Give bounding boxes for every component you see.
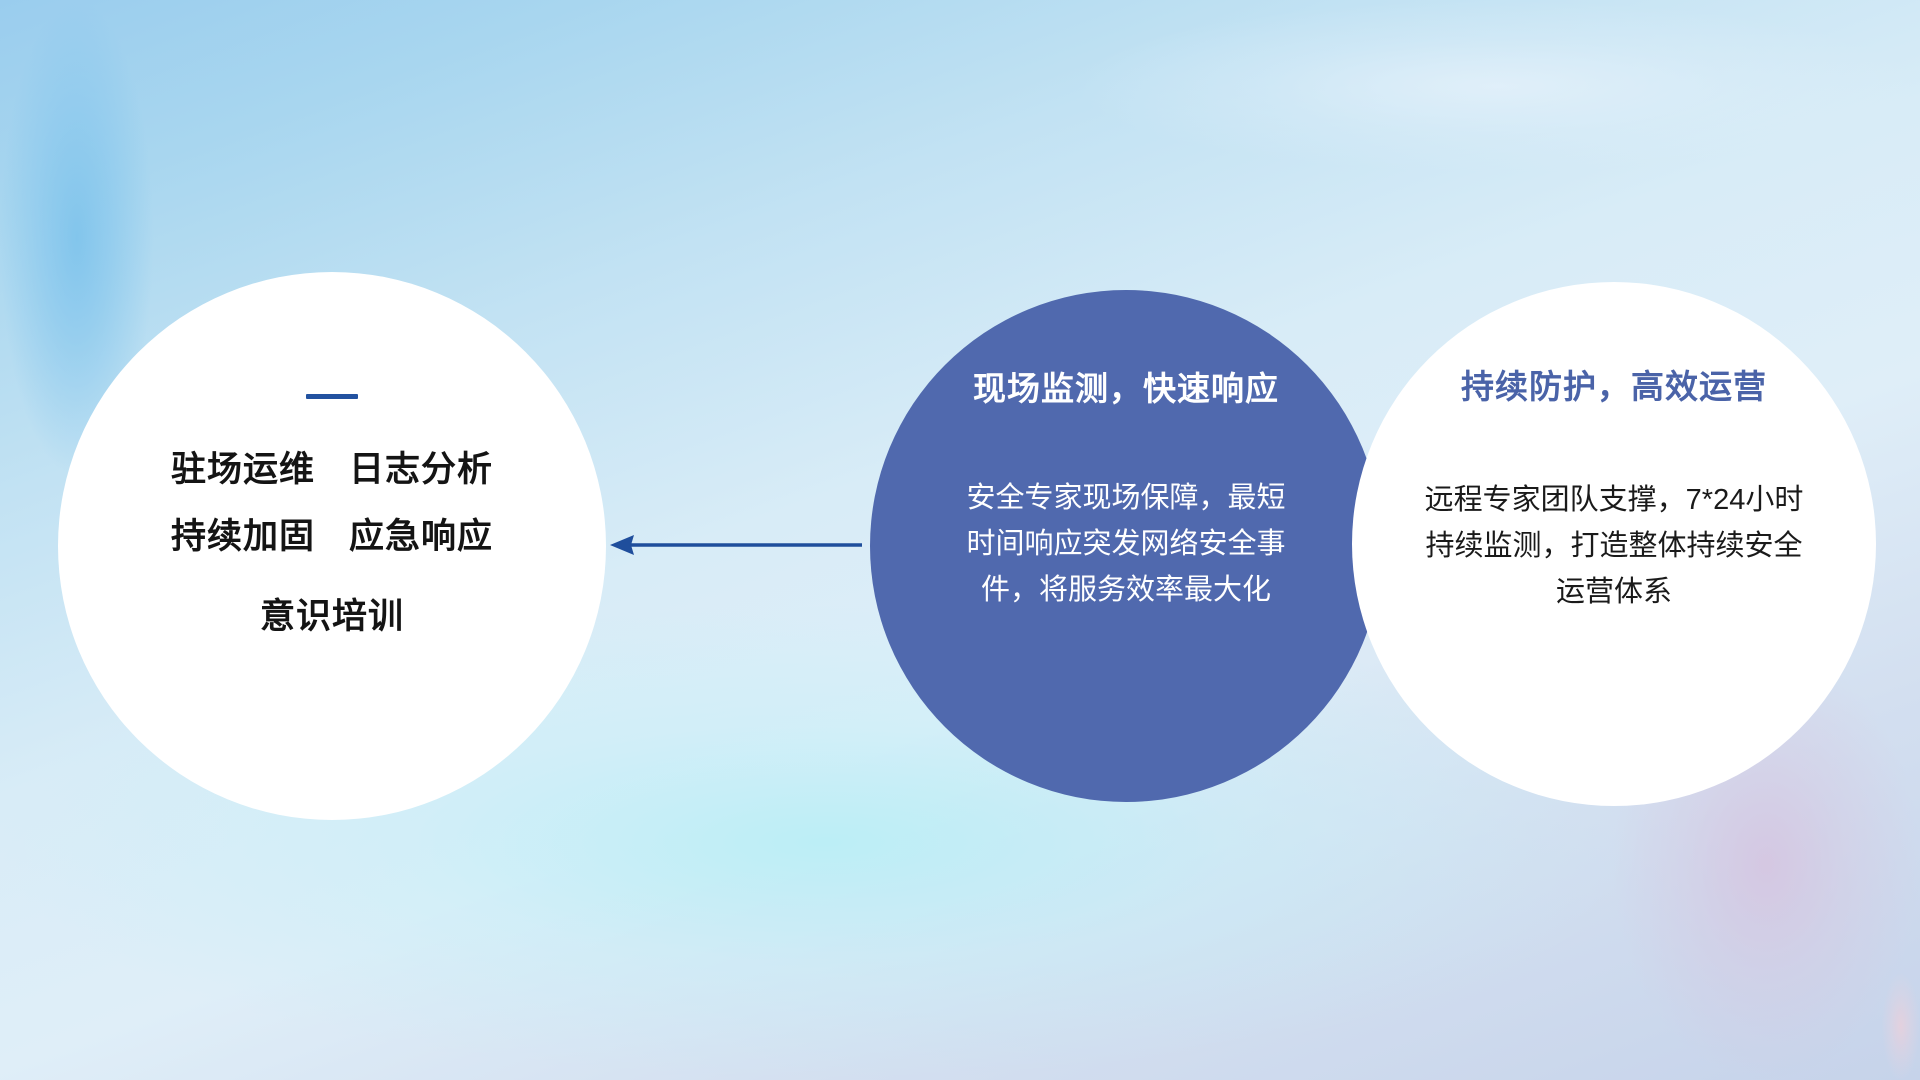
right-circle-body: 远程专家团队支撑，7*24小时持续监测，打造整体持续安全运营体系 <box>1414 478 1814 615</box>
middle-circle-body: 安全专家现场保障，最短时间响应突发网络安全事件，将服务效率最大化 <box>961 476 1291 613</box>
capability-item-4: 应急响应 <box>349 517 493 556</box>
capability-circle-middle[interactable]: 现场监测，快速响应 安全专家现场保障，最短时间响应突发网络安全事件，将服务效率最… <box>870 290 1382 802</box>
capability-item-1: 驻场运维 <box>171 450 315 489</box>
capability-circle-right[interactable]: 持续防护，高效运营 远程专家团队支撑，7*24小时持续监测，打造整体持续安全运营… <box>1352 282 1876 806</box>
middle-circle-title: 现场监测，快速响应 <box>973 362 1279 410</box>
slide-canvas: 驻场运维日志分析 持续加固应急响应 意识培训 现场监测，快速响应 安全专家现场保… <box>0 0 1920 1080</box>
capability-row-1: 驻场运维日志分析 <box>171 451 493 490</box>
divider-rule <box>306 394 358 399</box>
capability-circle-left[interactable]: 驻场运维日志分析 持续加固应急响应 意识培训 <box>58 272 606 820</box>
capability-item-3: 持续加固 <box>171 517 315 556</box>
capability-row-2: 持续加固应急响应 <box>171 518 493 557</box>
capability-list: 驻场运维日志分析 持续加固应急响应 意识培训 <box>171 451 493 637</box>
connector-arrow-icon <box>590 505 890 585</box>
capability-item-5: 意识培训 <box>260 598 404 637</box>
capability-item-2: 日志分析 <box>349 450 493 489</box>
right-circle-title: 持续防护，高效运营 <box>1461 360 1767 408</box>
